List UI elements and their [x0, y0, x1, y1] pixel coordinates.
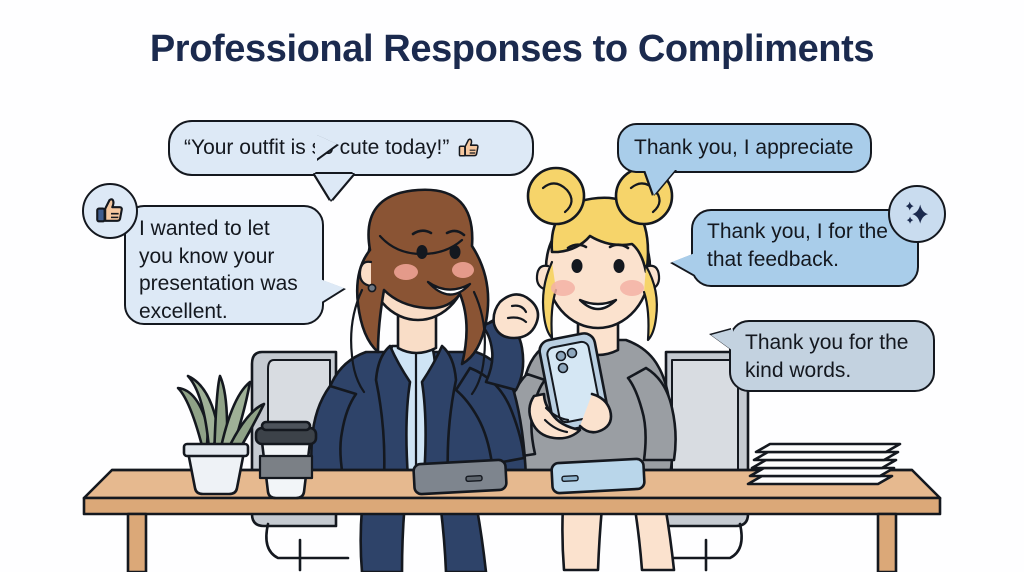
phone-right-on-desk [551, 459, 644, 494]
thumbs-up-badge[interactable] [82, 183, 138, 239]
thumbs-up-emoji-icon [456, 135, 482, 161]
bubble-tail-down [645, 170, 675, 195]
sparkles-icon [898, 195, 936, 233]
paper-stack [748, 444, 900, 484]
speech-bubble-feedback-response[interactable]: Thank you, I for the that feedback. [691, 209, 919, 287]
sparkles-badge[interactable] [888, 185, 946, 243]
bubble-tail-right [320, 279, 344, 303]
speech-bubble-appreciate-response[interactable]: Thank you, I appreciate [617, 123, 872, 173]
speech-bubble-outfit-compliment[interactable]: “Your outfit is so cute today!” [168, 120, 534, 176]
illustration-canvas: Professional Responses to Compliments “Y… [0, 0, 1024, 572]
bubble-text-kind: Thank you for the kind words. [745, 331, 908, 382]
thumbs-up-icon [93, 194, 127, 228]
bubble-tail-left [672, 253, 695, 275]
bubble-tail-left [711, 329, 733, 351]
phone-left-on-desk [413, 460, 506, 495]
speech-bubble-kind-words-response[interactable]: Thank you for the kind words. [729, 320, 935, 392]
page-title: Professional Responses to Compliments [0, 28, 1024, 71]
speech-bubble-presentation-compliment[interactable]: I wanted to let you know your presentati… [124, 205, 324, 325]
bubble-tail-down [315, 174, 353, 200]
bubble-text-presentation: I wanted to let you know your presentati… [139, 217, 298, 323]
bubble-text-appreciate: Thank you, I appreciate [634, 134, 853, 162]
bubble-tail-right [315, 134, 359, 160]
bubble-text-feedback: Thank you, I for the that feedback. [707, 220, 888, 271]
